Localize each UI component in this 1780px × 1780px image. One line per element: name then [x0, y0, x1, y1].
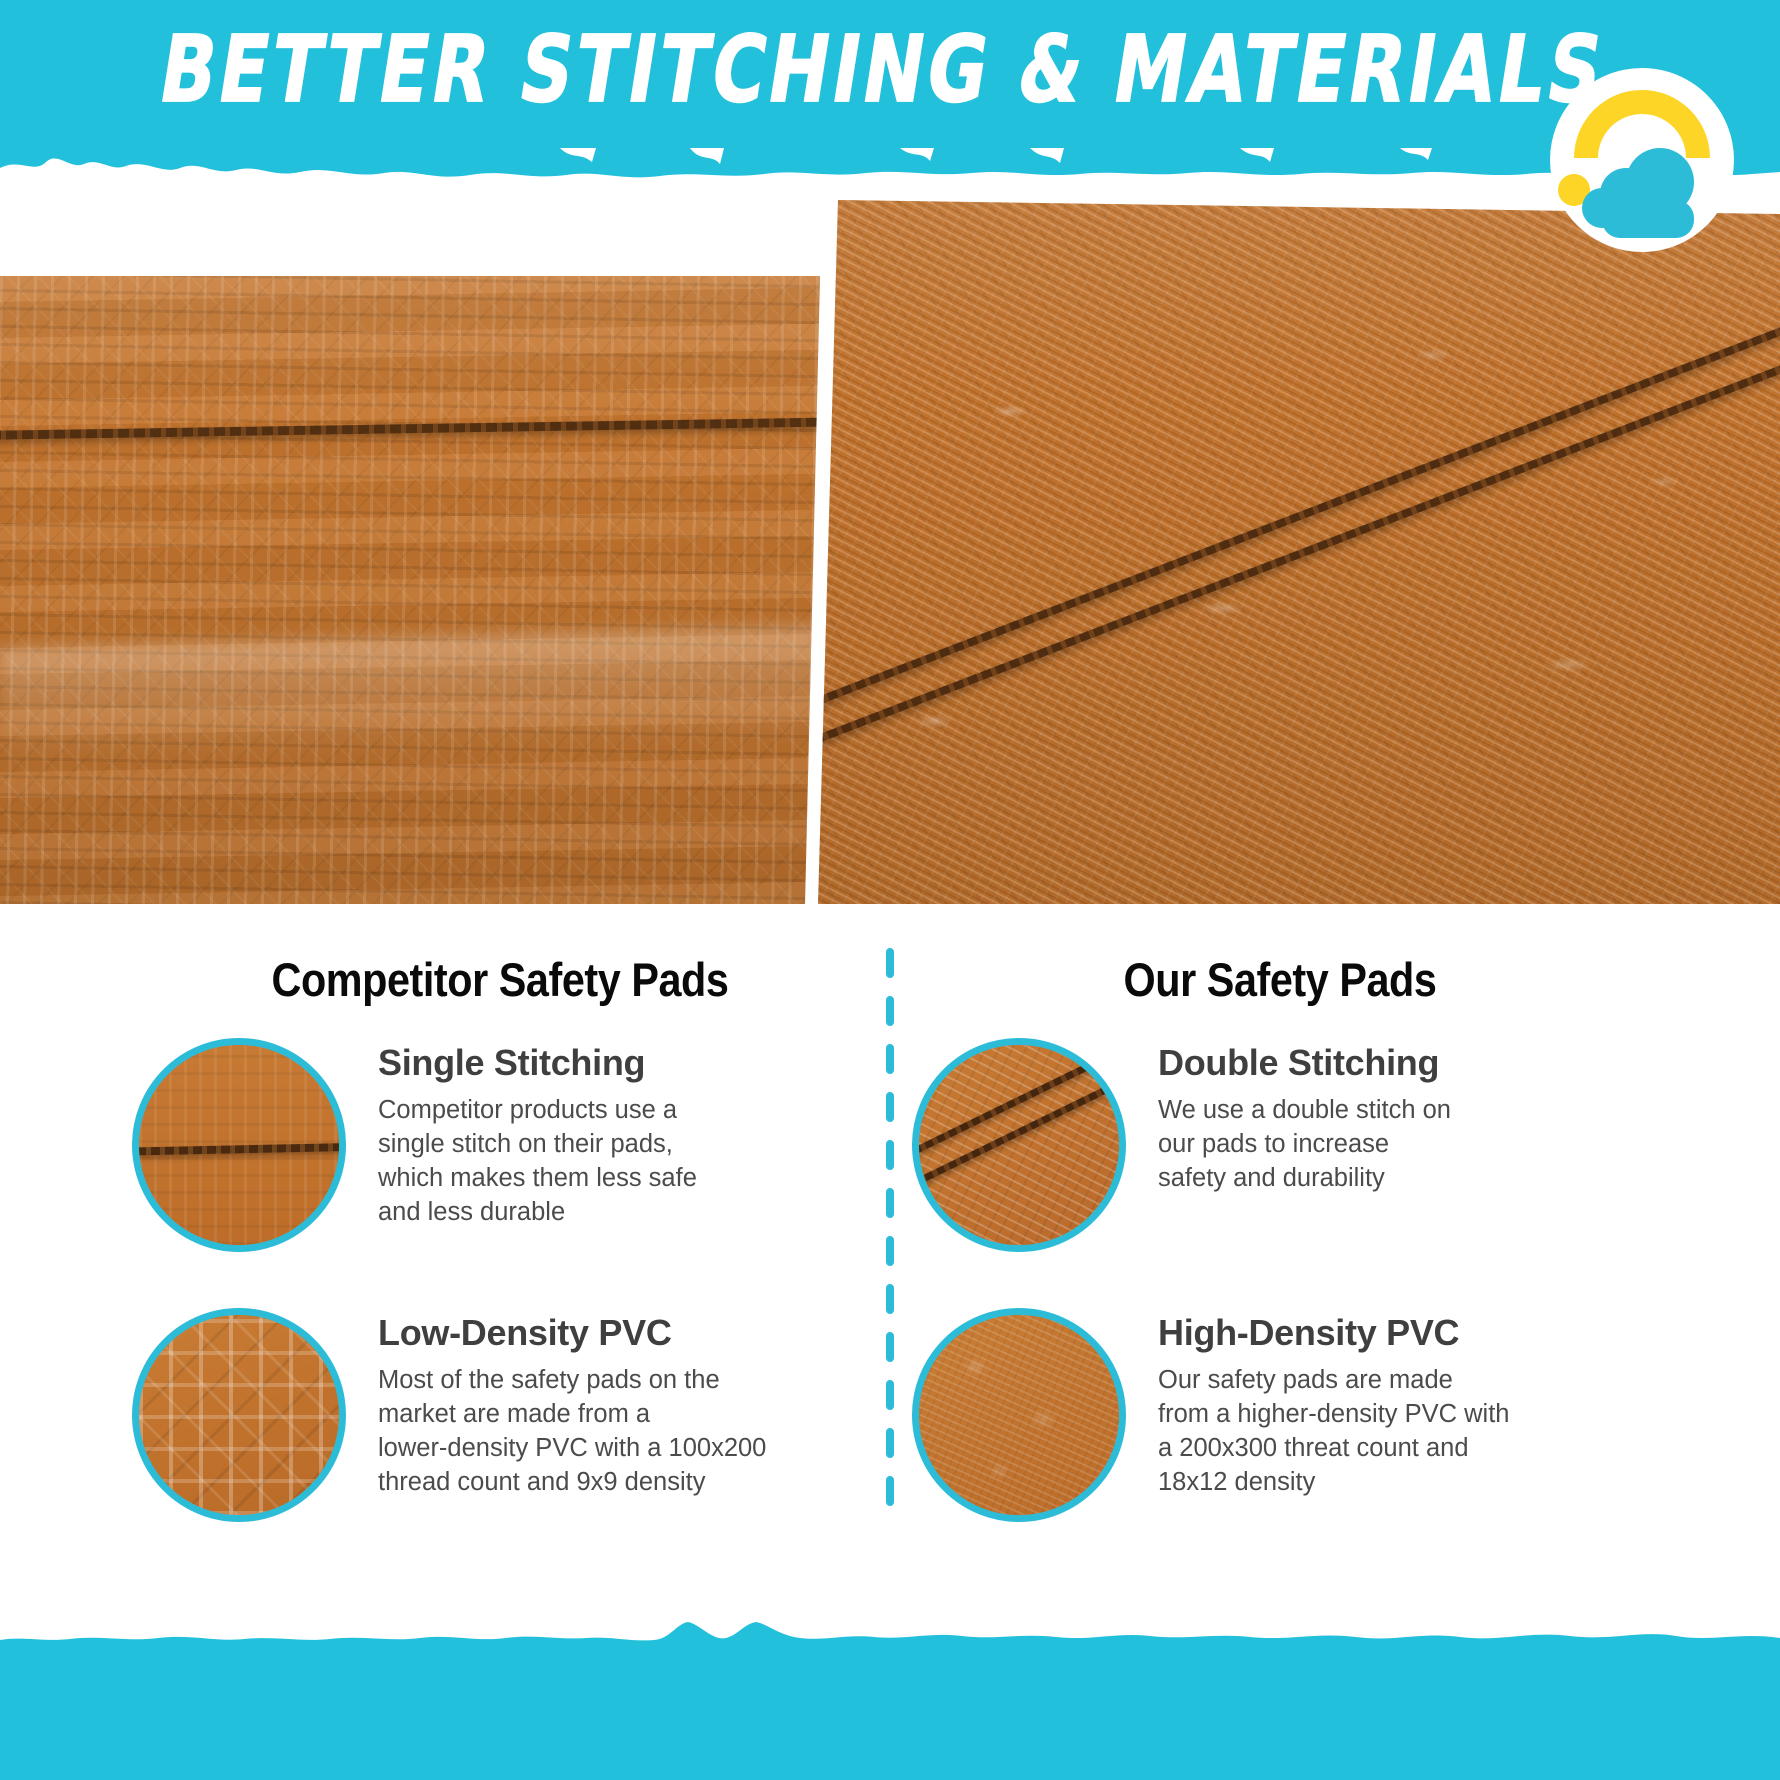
feature-text: Single Stitching Competitor products use… — [378, 1042, 848, 1230]
header-brush-edge — [0, 148, 1780, 178]
photo-comparison-strip — [0, 178, 1780, 904]
divider-dash — [886, 1476, 894, 1506]
low-density-pvc-thumbnail — [132, 1308, 346, 1522]
fabric-bands — [0, 276, 820, 904]
page-title: BETTER STITCHING & MATERIALS — [12, 24, 1753, 116]
divider-dash — [886, 1188, 894, 1218]
divider-dash — [886, 1380, 894, 1410]
feature-title: Low-Density PVC — [378, 1312, 848, 1354]
our-column-heading: Our Safety Pads — [946, 952, 1615, 1007]
feature-title: Double Stitching — [1158, 1042, 1628, 1084]
sun-cloud-logo — [1548, 66, 1736, 254]
divider-dash — [886, 948, 894, 978]
divider-dash — [886, 1140, 894, 1170]
competitor-pad-photo — [0, 276, 820, 904]
thumbnail-texture — [919, 1315, 1119, 1515]
double-stitch-thumbnail — [912, 1038, 1126, 1252]
feature-title: High-Density PVC — [1158, 1312, 1628, 1354]
feature-body: We use a double stitch on our pads to in… — [1158, 1094, 1628, 1196]
footer-band — [0, 1652, 1780, 1780]
feature-body: Most of the safety pads on the market ar… — [378, 1364, 848, 1500]
feature-text: Low-Density PVC Most of the safety pads … — [378, 1312, 848, 1500]
our-pad-photo — [818, 200, 1780, 904]
feature-text: Double Stitching We use a double stitch … — [1158, 1042, 1628, 1196]
divider-dash — [886, 1236, 894, 1266]
divider-dash — [886, 1092, 894, 1122]
high-density-pvc-thumbnail — [912, 1308, 1126, 1522]
column-divider — [886, 948, 894, 1548]
divider-dash — [886, 1428, 894, 1458]
single-stitch-thumbnail — [132, 1038, 346, 1252]
divider-dash — [886, 1284, 894, 1314]
competitor-column-heading: Competitor Safety Pads — [166, 952, 835, 1007]
footer-brush-edge — [0, 1622, 1780, 1656]
feature-text: High-Density PVC Our safety pads are mad… — [1158, 1312, 1628, 1500]
thumbnail-texture — [919, 1045, 1119, 1245]
header-band: BETTER STITCHING & MATERIALS — [0, 0, 1780, 178]
divider-dash — [886, 1332, 894, 1362]
divider-dash — [886, 1044, 894, 1074]
fabric-sheen — [0, 625, 820, 768]
thumbnail-texture — [139, 1315, 339, 1515]
feature-title: Single Stitching — [378, 1042, 848, 1084]
feature-body: Competitor products use a single stitch … — [378, 1094, 848, 1230]
feature-body: Our safety pads are made from a higher-d… — [1158, 1364, 1628, 1500]
divider-dash — [886, 996, 894, 1026]
infographic-poster: BETTER STITCHING & MATERIALS — [0, 0, 1780, 1780]
